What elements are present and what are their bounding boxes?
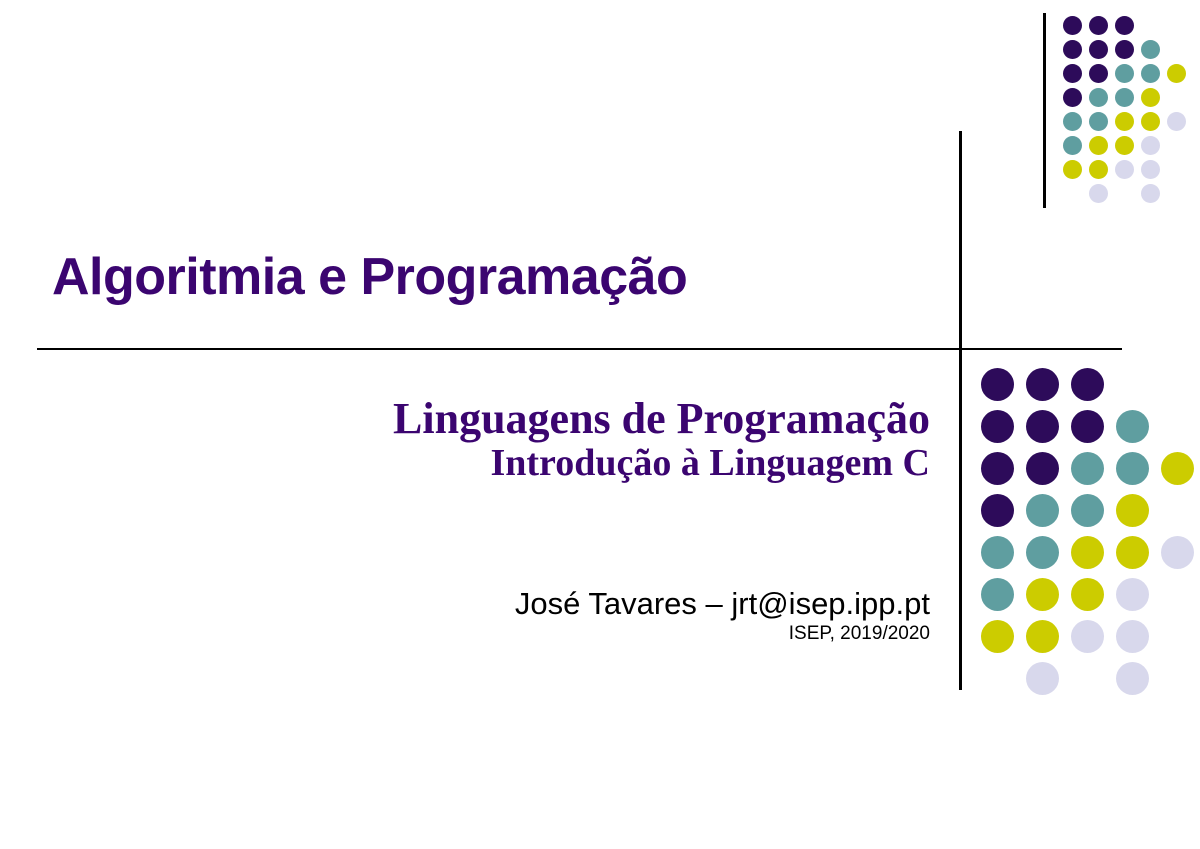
logo-dot-teal	[1089, 112, 1108, 131]
logo-dot-yellow	[1167, 64, 1186, 83]
logo-dot-teal	[1071, 452, 1104, 485]
logo-dot-empty	[1115, 184, 1134, 203]
logo-dot-lavender	[1141, 160, 1160, 179]
logo-dot-row	[981, 662, 1200, 704]
logo-dot-lavender	[1089, 184, 1108, 203]
logo-dot-purple	[1089, 64, 1108, 83]
logo-dot-purple	[1089, 16, 1108, 35]
logo-dot-purple	[981, 452, 1014, 485]
logo-dot-yellow	[1026, 578, 1059, 611]
logo-dot-lavender	[1071, 620, 1104, 653]
logo-dot-empty	[1063, 184, 1082, 203]
logo-dot-yellow	[1026, 620, 1059, 653]
logo-dot-grid-small	[1063, 16, 1193, 208]
logo-dot-lavender	[1161, 536, 1194, 569]
logo-dot-purple	[1063, 16, 1082, 35]
logo-dot-empty	[1161, 368, 1194, 401]
logo-dot-teal	[1063, 136, 1082, 155]
logo-dot-teal	[981, 578, 1014, 611]
page-title: Algoritmia e Programação	[52, 248, 932, 306]
subtitle-secondary: Introdução à Linguagem C	[120, 443, 930, 485]
logo-dot-teal	[1026, 536, 1059, 569]
logo-dot-teal	[1116, 410, 1149, 443]
logo-dot-purple	[981, 368, 1014, 401]
logo-dot-row	[981, 410, 1200, 452]
logo-dot-yellow	[1071, 536, 1104, 569]
logo-dot-empty	[1141, 16, 1160, 35]
logo-dot-yellow	[1063, 160, 1082, 179]
logo-dot-row	[1063, 136, 1193, 160]
logo-dot-purple	[1026, 368, 1059, 401]
logo-dot-yellow	[1116, 536, 1149, 569]
logo-dot-lavender	[1116, 578, 1149, 611]
subtitle-primary: Linguagens de Programação	[120, 396, 930, 443]
logo-dot-yellow	[1116, 494, 1149, 527]
logo-dot-teal	[1071, 494, 1104, 527]
logo-dot-teal	[1026, 494, 1059, 527]
logo-dot-row	[1063, 160, 1193, 184]
author-name-and-email: José Tavares – jrt@isep.ipp.pt	[200, 586, 930, 622]
logo-dot-purple	[1089, 40, 1108, 59]
logo-dot-empty	[981, 662, 1014, 695]
logo-dot-row	[981, 368, 1200, 410]
logo-dot-yellow	[1161, 452, 1194, 485]
logo-dot-empty	[1167, 88, 1186, 107]
logo-dot-purple	[1115, 40, 1134, 59]
logo-dot-purple	[981, 494, 1014, 527]
logo-dot-lavender	[1115, 160, 1134, 179]
logo-dot-empty	[1167, 40, 1186, 59]
logo-dot-empty	[1161, 494, 1194, 527]
logo-dot-lavender	[1167, 112, 1186, 131]
logo-dot-yellow	[1089, 136, 1108, 155]
logo-dot-row	[981, 452, 1200, 494]
logo-dot-purple	[1071, 368, 1104, 401]
logo-dot-teal	[1141, 40, 1160, 59]
logo-dot-row	[981, 536, 1200, 578]
logo-dot-purple	[1026, 410, 1059, 443]
slide-canvas: Algoritmia e Programação Linguagens de P…	[0, 0, 1200, 849]
author-block: José Tavares – jrt@isep.ipp.pt ISEP, 201…	[200, 586, 930, 645]
logo-dot-lavender	[1026, 662, 1059, 695]
logo-dot-yellow	[981, 620, 1014, 653]
logo-dot-purple	[1063, 40, 1082, 59]
logo-dot-teal	[1116, 452, 1149, 485]
logo-dot-teal	[981, 536, 1014, 569]
logo-dot-row	[1063, 112, 1193, 136]
logo-dot-empty	[1161, 662, 1194, 695]
logo-dot-lavender	[1116, 620, 1149, 653]
logo-dot-row	[981, 578, 1200, 620]
logo-dot-row	[1063, 64, 1193, 88]
logo-dot-purple	[1063, 64, 1082, 83]
logo-dot-empty	[1071, 662, 1104, 695]
logo-dot-empty	[1167, 136, 1186, 155]
logo-vertical-rule	[1043, 13, 1046, 208]
logo-dot-yellow	[1071, 578, 1104, 611]
logo-dot-row	[981, 620, 1200, 662]
logo-dot-purple	[1071, 410, 1104, 443]
logo-dot-empty	[1167, 16, 1186, 35]
logo-dot-lavender	[1141, 136, 1160, 155]
logo-dot-empty	[1161, 620, 1194, 653]
subtitle-block: Linguagens de Programação Introdução à L…	[120, 396, 930, 484]
logo-dot-empty	[1167, 160, 1186, 179]
vertical-divider-rule	[959, 131, 962, 690]
logo-dot-row	[1063, 88, 1193, 112]
logo-dot-empty	[1116, 368, 1149, 401]
logo-dot-teal	[1063, 112, 1082, 131]
affiliation-and-year: ISEP, 2019/2020	[200, 622, 930, 646]
logo-dot-teal	[1141, 64, 1160, 83]
logo-dot-row	[1063, 184, 1193, 208]
logo-dot-purple	[1026, 452, 1059, 485]
logo-dot-empty	[1161, 578, 1194, 611]
logo-dot-row	[981, 494, 1200, 536]
logo-dot-yellow	[1089, 160, 1108, 179]
logo-dot-grid-large	[981, 368, 1200, 704]
logo-dot-row	[1063, 16, 1193, 40]
logo-dot-teal	[1089, 88, 1108, 107]
logo-dot-purple	[1063, 88, 1082, 107]
logo-dot-teal	[1115, 64, 1134, 83]
logo-dot-yellow	[1115, 136, 1134, 155]
logo-dot-teal	[1115, 88, 1134, 107]
logo-dot-purple	[981, 410, 1014, 443]
logo-dot-purple	[1115, 16, 1134, 35]
logo-dot-lavender	[1116, 662, 1149, 695]
logo-dot-yellow	[1141, 112, 1160, 131]
logo-dot-row	[1063, 40, 1193, 64]
logo-dot-empty	[1167, 184, 1186, 203]
logo-dot-lavender	[1141, 184, 1160, 203]
logo-dot-yellow	[1115, 112, 1134, 131]
logo-dot-empty	[1161, 410, 1194, 443]
logo-dot-yellow	[1141, 88, 1160, 107]
